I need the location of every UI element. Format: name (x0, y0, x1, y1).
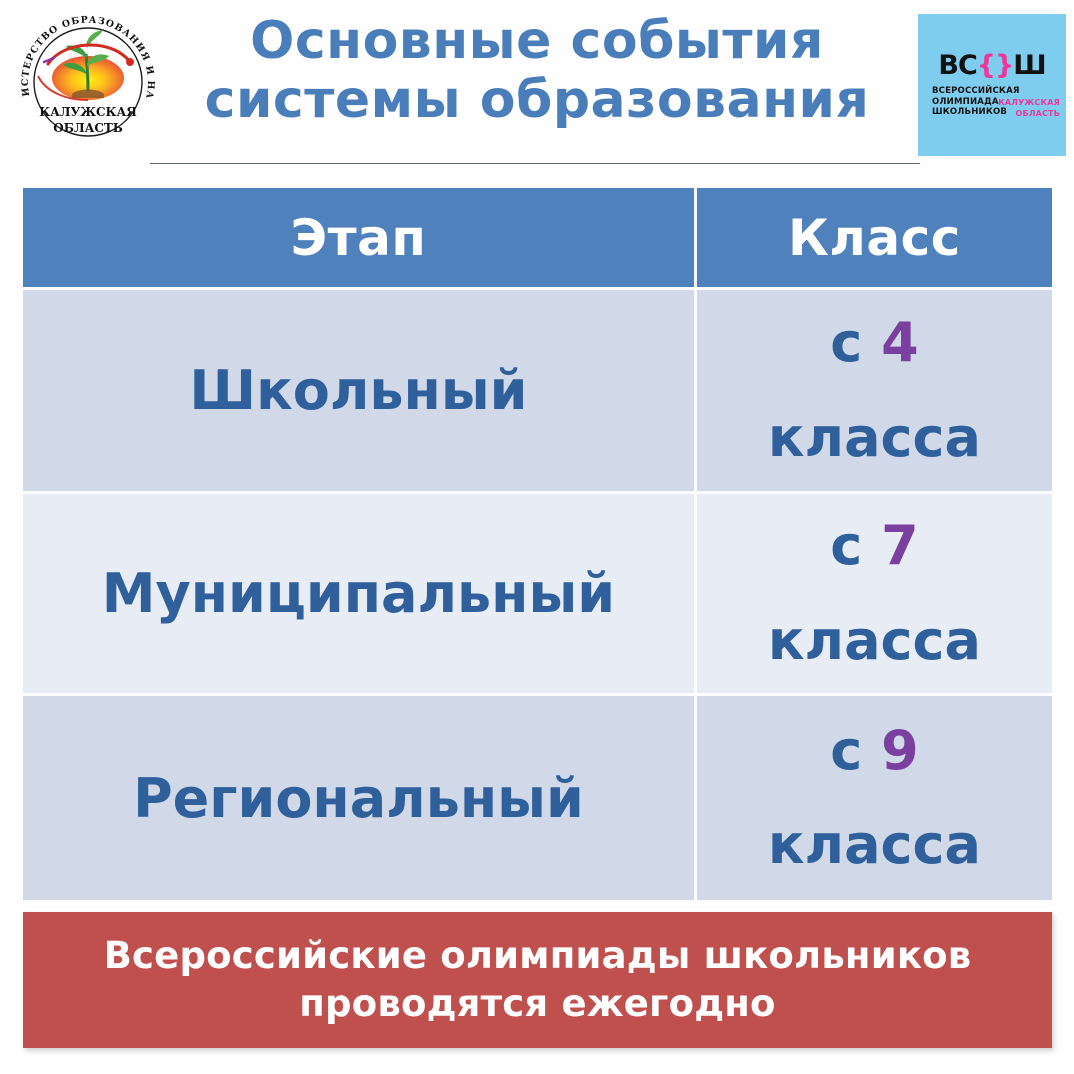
table-cell-class: с 9 класса (694, 696, 1052, 900)
table-cell-stage: Школьный (23, 290, 694, 491)
vsosh-logo-icon: ВС{}Ш ВСЕРОССИЙСКАЯ ОЛИМПИАДА ШКОЛЬНИКОВ… (918, 14, 1066, 156)
banner-line2: проводятся ежегодно (299, 982, 775, 1025)
svg-text:КАЛУЖСКАЯ: КАЛУЖСКАЯ (39, 105, 137, 119)
stage-label: Школьный (189, 359, 527, 422)
class-prefix: с (830, 719, 881, 782)
table-header-label-stage: Этап (290, 209, 426, 267)
table-row: Муниципальный с 7 класса (23, 491, 1052, 693)
title-divider (150, 163, 920, 164)
class-prefix: с (830, 311, 881, 374)
vsosh-region-line1: КАЛУЖСКАЯ (998, 98, 1060, 108)
vsosh-mark-bracket: {} (977, 50, 1013, 81)
table-row: Школьный с 4 класса (23, 287, 1052, 491)
class-suffix: класса (768, 609, 981, 672)
class-number: 4 (881, 311, 919, 374)
vsosh-wordmark: ВС{}Ш (926, 52, 1058, 79)
vsosh-mark-right: Ш (1013, 50, 1045, 81)
header: МИНИСТЕРСТВО ОБРАЗОВАНИЯ И НАУКИ КАЛУЖСК… (0, 0, 1074, 176)
vsosh-mark-left: ВС (938, 50, 976, 81)
table-header-label-class: Класс (788, 209, 961, 267)
table-row: Региональный с 9 класса (23, 693, 1052, 900)
class-value: с 9 класса (768, 704, 981, 893)
table-cell-stage: Муниципальный (23, 494, 694, 693)
stage-label: Региональный (133, 767, 584, 830)
page-title: Основные события системы образования (178, 12, 896, 131)
table-cell-stage: Региональный (23, 696, 694, 900)
vsosh-region-line2: ОБЛАСТЬ (998, 109, 1060, 119)
class-prefix: с (830, 514, 881, 577)
stage-label: Муниципальный (102, 562, 615, 625)
infographic-slide: МИНИСТЕРСТВО ОБРАЗОВАНИЯ И НАУКИ КАЛУЖСК… (0, 0, 1074, 1074)
banner-text: Всероссийские олимпиады школьников прово… (104, 932, 972, 1028)
kaluga-ministry-emblem-icon: МИНИСТЕРСТВО ОБРАЗОВАНИЯ И НАУКИ КАЛУЖСК… (8, 6, 168, 156)
svg-text:ОБЛАСТЬ: ОБЛАСТЬ (53, 121, 123, 135)
stages-table: Этап Класс Школьный с 4 класса Муниципал… (23, 188, 1052, 900)
table-header-cell-stage: Этап (23, 188, 694, 287)
vsosh-subtitle-line1: ВСЕРОССИЙСКАЯ (932, 86, 1058, 97)
class-suffix: класса (768, 813, 981, 876)
class-number: 9 (881, 719, 919, 782)
page-title-line1: Основные события (178, 12, 896, 71)
table-cell-class: с 4 класса (694, 290, 1052, 491)
annual-olympiad-banner: Всероссийские олимпиады школьников прово… (23, 912, 1052, 1048)
page-title-line2: системы образования (178, 71, 896, 130)
vsosh-subtitle: ВСЕРОССИЙСКАЯ ОЛИМПИАДА ШКОЛЬНИКОВ КАЛУЖ… (926, 86, 1058, 118)
class-suffix: класса (768, 406, 981, 469)
class-value: с 7 класса (768, 499, 981, 688)
vsosh-region-label: КАЛУЖСКАЯ ОБЛАСТЬ (998, 98, 1060, 119)
table-header-cell-class: Класс (694, 188, 1052, 287)
class-number: 7 (881, 514, 919, 577)
table-header-row: Этап Класс (23, 188, 1052, 287)
banner-line1: Всероссийские олимпиады школьников (104, 934, 972, 977)
table-cell-class: с 7 класса (694, 494, 1052, 693)
class-value: с 4 класса (768, 296, 981, 485)
